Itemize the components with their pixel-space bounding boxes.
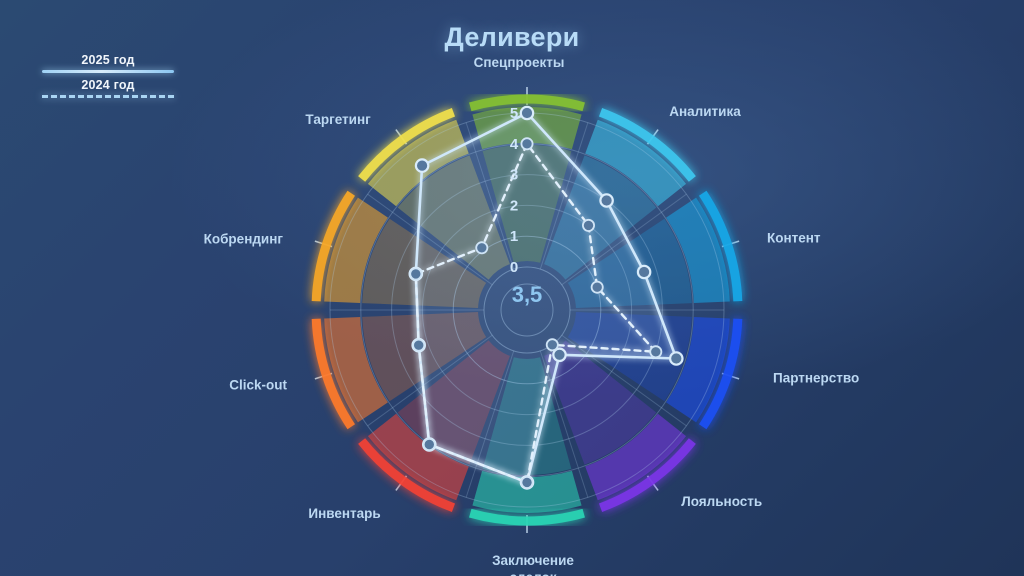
category-label: Click-out <box>229 378 287 393</box>
data-point-2024[interactable] <box>650 346 661 357</box>
outer-arc <box>470 99 583 107</box>
data-point-2025[interactable] <box>638 266 650 278</box>
data-point-2025[interactable] <box>600 194 612 206</box>
radar-chart: 012345 АналитикаКонтентПартнерствоЛояльн… <box>0 0 1024 576</box>
outer-arc <box>470 513 583 521</box>
radar-chart-svg: 012345 АналитикаКонтентПартнерствоЛояльн… <box>0 0 1024 576</box>
category-label: Таргетинг <box>305 112 371 127</box>
data-point-2025[interactable] <box>416 159 428 171</box>
data-point-2024[interactable] <box>410 268 421 279</box>
axis-tick-label-0: 0 <box>510 259 518 276</box>
data-point-2024[interactable] <box>521 477 532 488</box>
axis-tick-label-1: 1 <box>510 228 518 245</box>
data-point-2024[interactable] <box>583 220 594 231</box>
data-point-2025[interactable] <box>670 352 682 364</box>
category-label: сделок <box>510 570 557 576</box>
data-point-2024[interactable] <box>521 138 532 149</box>
category-label: Кобрендинг <box>204 231 284 246</box>
data-point-2025[interactable] <box>521 107 533 119</box>
category-label: Контент <box>767 230 821 245</box>
axis-tick-label-2: 2 <box>510 197 518 214</box>
category-label: Партнерство <box>773 371 859 386</box>
category-label: Аналитика <box>669 104 741 119</box>
category-label: Спецпроекты <box>474 55 565 70</box>
axis-tick-label-5: 5 <box>510 105 518 122</box>
axis-tick-label-4: 4 <box>510 136 519 153</box>
data-point-2024[interactable] <box>592 282 603 293</box>
category-label: Инвентарь <box>308 506 380 521</box>
data-point-2024[interactable] <box>413 340 424 351</box>
slide-canvas: Деливери 2025 год 2024 год <box>0 0 1024 576</box>
data-point-2024[interactable] <box>547 339 558 350</box>
data-point-2024[interactable] <box>424 439 435 450</box>
data-point-2024[interactable] <box>476 242 487 253</box>
axis-tick-label-3: 3 <box>510 167 518 184</box>
center-value: 3,5 <box>512 282 543 307</box>
category-label: Заключение <box>492 553 574 568</box>
category-label: Лояльность <box>681 494 762 509</box>
